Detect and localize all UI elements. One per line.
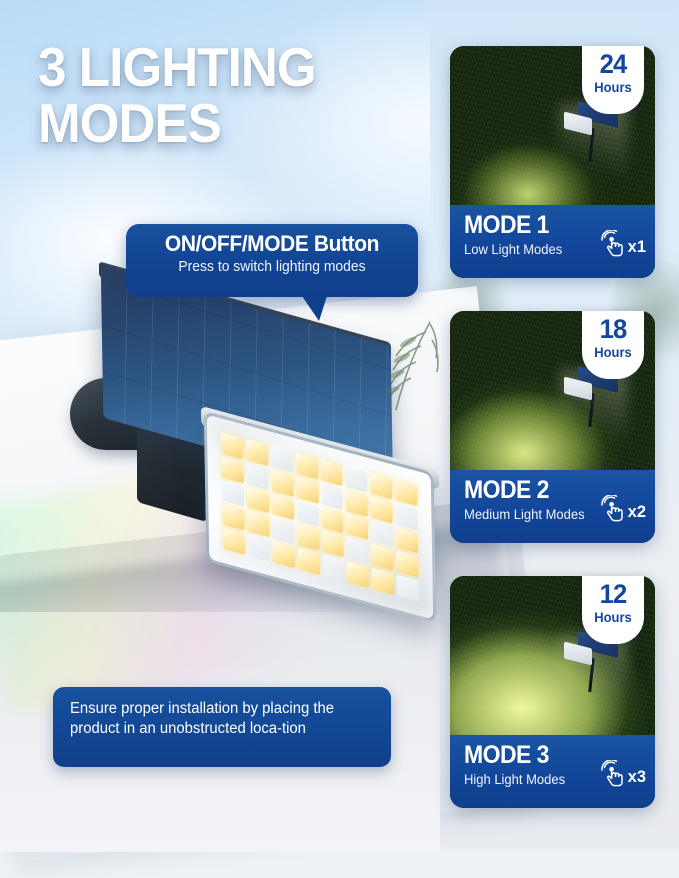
installation-note-text: Ensure proper installation by placing th… [70,699,365,739]
mode-card[interactable]: 12 Hours MODE 3 High Light Modes x3 [450,576,655,808]
plant-sprig-icon [352,318,442,423]
hours-value: 24 [584,51,643,78]
hours-badge: 24 Hours [582,46,644,114]
hours-badge: 12 Hours [582,576,644,644]
hours-unit: Hours [583,610,643,625]
tap-hand-icon [600,760,626,788]
mode-button-callout: ON/OFF/MODE Button Press to switch light… [126,224,418,297]
press-count-group: x2 [600,495,646,523]
callout-title: ON/OFF/MODE Button [136,231,408,257]
mode-card[interactable]: 24 Hours MODE 1 Low Light Modes x1 [450,46,655,278]
callout-pointer-tail [302,296,327,321]
mode-label-bar: MODE 2 Medium Light Modes x2 [450,470,655,543]
hours-value: 12 [584,581,643,608]
press-count: x3 [628,769,646,789]
mode-card[interactable]: 18 Hours MODE 2 Medium Light Modes x2 [450,311,655,543]
page-title-line-1: 3 LIGHTING [38,42,401,94]
infographic-stage: 3 LIGHTING MODES [0,0,679,849]
press-count-group: x3 [600,760,646,788]
hours-unit: Hours [583,80,643,95]
hours-unit: Hours [583,345,643,360]
hours-badge: 18 Hours [582,311,644,379]
mode-label-bar: MODE 3 High Light Modes x3 [450,735,655,808]
callout-subtitle: Press to switch lighting modes [132,259,412,275]
tap-hand-icon [600,230,626,258]
press-count: x2 [628,504,646,524]
page-title: 3 LIGHTING MODES [38,42,401,149]
press-count: x1 [628,239,646,259]
installation-note: Ensure proper installation by placing th… [53,687,391,767]
hours-value: 18 [584,316,643,343]
page-title-line-2: MODES [38,98,401,150]
mode-label-bar: MODE 1 Low Light Modes x1 [450,205,655,278]
lamp-head [204,411,437,624]
tap-hand-icon [600,495,626,523]
press-count-group: x1 [600,230,646,258]
